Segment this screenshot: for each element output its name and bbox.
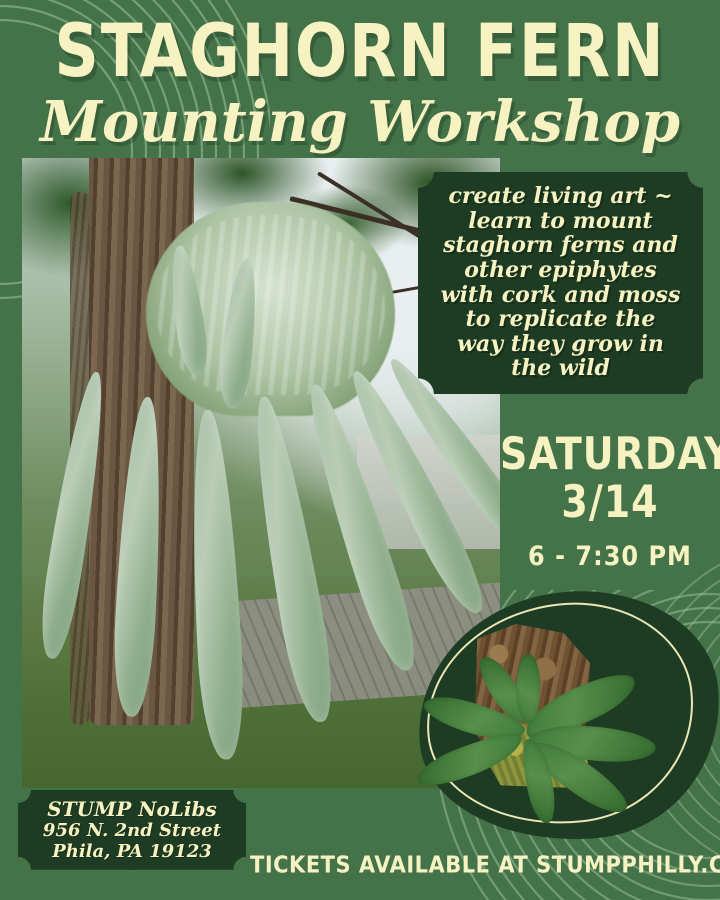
inset-photo [440,618,650,808]
venue-street: 956 N. 2nd Street [43,821,221,842]
poster-canvas: STAGHORN FERN Mounting Workshop create l… [0,0,720,900]
description-text: create living art ~ learn to mount stagh… [426,184,695,381]
venue-plaque: STUMP NoLibs 956 N. 2nd Street Phila, PA… [18,790,246,870]
event-day: SATURDAY [500,432,720,477]
event-date-block: SATURDAY 3/14 6 - 7:30 PM [500,432,720,569]
inset-photo-group [418,592,720,840]
poster-headline: STAGHORN FERN Mounting Workshop [0,16,720,150]
description-panel: create living art ~ learn to mount stagh… [418,172,703,394]
venue-city-state-zip: Phila, PA 19123 [52,842,212,863]
event-time: 6 - 7:30 PM [500,541,720,572]
event-date: 3/14 [500,480,720,525]
tickets-footer[interactable]: TICKETS AVAILABLE AT STUMPPHILLY.COM [250,851,700,878]
page-title: STAGHORN FERN [4,16,717,86]
inset-leaf [516,654,540,724]
venue-name: STUMP NoLibs [47,798,216,821]
page-subtitle: Mounting Workshop [0,94,720,150]
